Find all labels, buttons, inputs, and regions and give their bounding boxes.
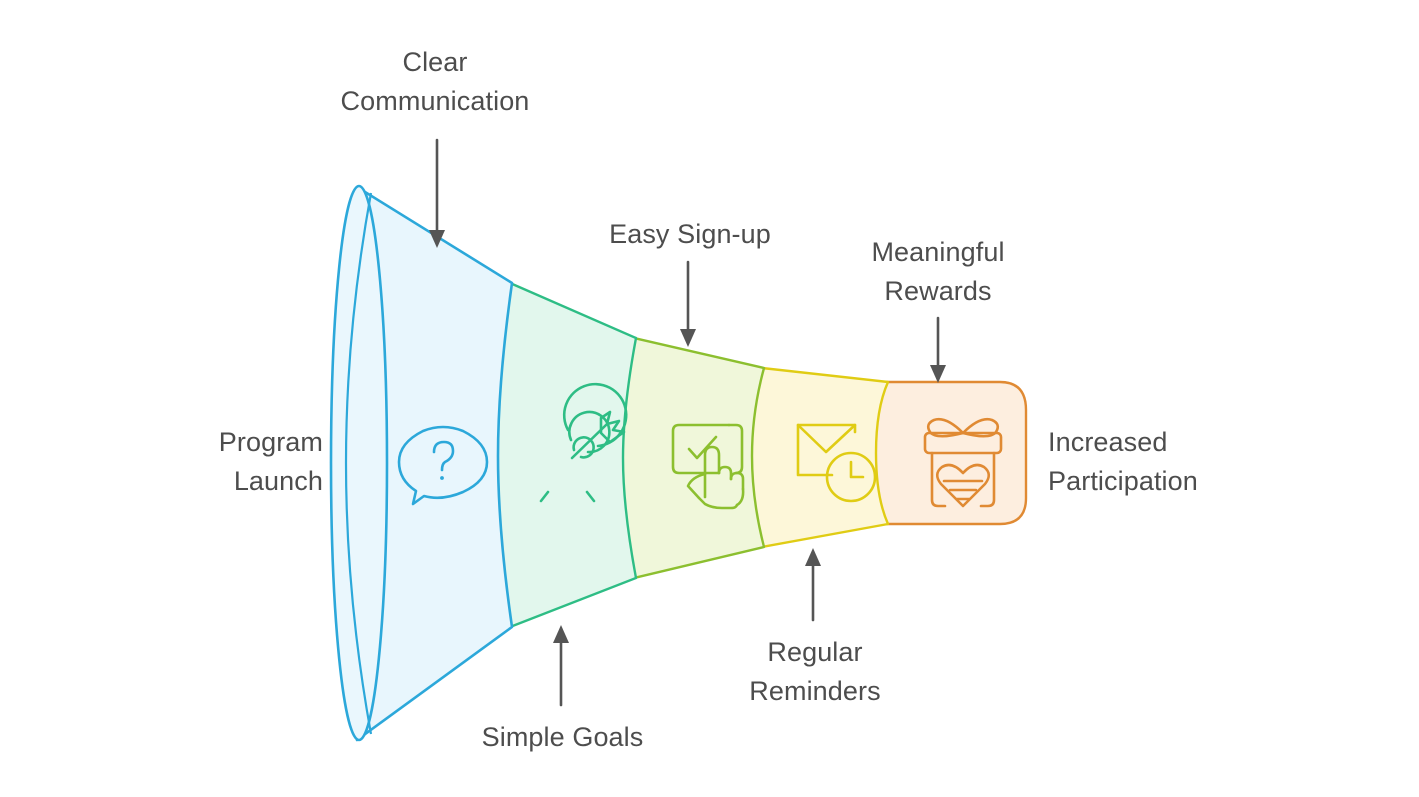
stage-body-green <box>496 283 636 627</box>
funnel-end-label: Increased Participation <box>1048 423 1348 500</box>
callout-arrow-clear-communication <box>429 140 445 248</box>
funnel-stage-simple-goals[interactable] <box>496 283 636 627</box>
callout-label-clear-communication: Clear Communication <box>285 43 585 120</box>
callout-arrow-simple-goals <box>553 625 569 705</box>
funnel-start-label: Program Launch <box>105 423 323 500</box>
funnel-stage-regular-reminders[interactable] <box>750 368 888 547</box>
funnel-stage-clear-communication[interactable] <box>331 186 512 740</box>
callout-label-simple-goals: Simple Goals <box>435 718 690 757</box>
funnel-diagram: Clear Communication Easy Sign-up Meaning… <box>0 0 1419 797</box>
callout-label-regular-reminders: Regular Reminders <box>695 633 935 710</box>
callout-label-meaningful-rewards: Meaningful Rewards <box>820 233 1056 310</box>
callout-arrow-meaningful-rewards <box>930 318 946 383</box>
callout-label-easy-sign-up: Easy Sign-up <box>560 215 820 254</box>
stage-body-yellow <box>750 368 888 547</box>
callout-arrow-regular-reminders <box>805 548 821 620</box>
callout-arrow-easy-sign-up <box>680 262 696 347</box>
